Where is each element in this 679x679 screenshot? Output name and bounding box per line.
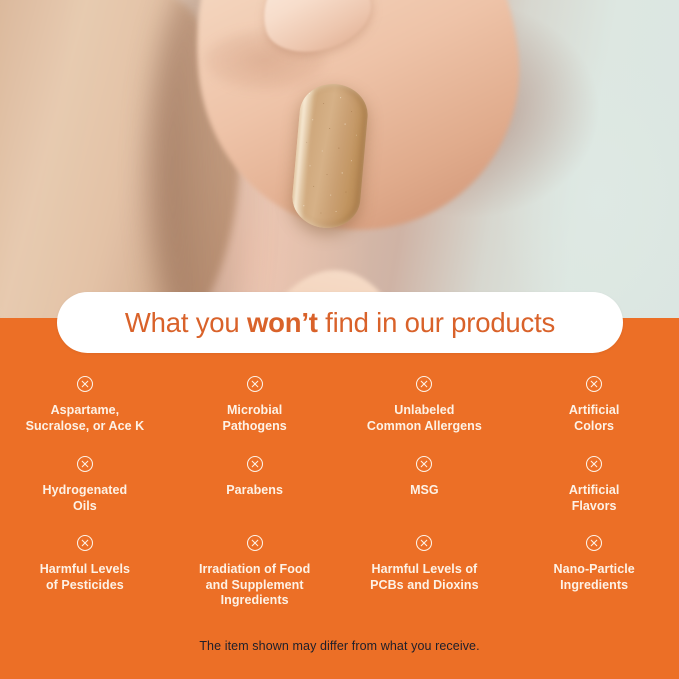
circle-x-icon	[76, 534, 94, 552]
grid-row: Aspartame, Sucralose, or Ace K Microbial…	[0, 372, 679, 452]
circle-x-icon	[76, 455, 94, 473]
excluded-ingredients-grid: Aspartame, Sucralose, or Ace K Microbial…	[0, 372, 679, 613]
label-line: Ingredients	[199, 593, 310, 609]
grid-cell: Artificial Flavors	[509, 452, 679, 531]
grid-cell: Harmful Levels of PCBs and Dioxins	[340, 531, 510, 613]
grid-cell: Unlabeled Common Allergens	[340, 372, 510, 452]
grid-cell-label: MSG	[410, 483, 439, 499]
grid-cell-label: Aspartame, Sucralose, or Ace K	[26, 403, 145, 434]
tablet-pill	[290, 81, 370, 230]
grid-row: Harmful Levels of Pesticides Irradiation…	[0, 531, 679, 613]
circle-x-icon	[246, 375, 264, 393]
label-line: Nano-Particle	[554, 562, 635, 578]
grid-cell: Hydrogenated Oils	[0, 452, 170, 531]
label-line: MSG	[410, 483, 439, 499]
label-line: Pathogens	[222, 419, 286, 435]
label-line: Aspartame,	[26, 403, 145, 419]
grid-cell: MSG	[340, 452, 510, 531]
label-line: PCBs and Dioxins	[370, 578, 478, 594]
circle-x-icon	[585, 455, 603, 473]
grid-cell-label: Nano-Particle Ingredients	[554, 562, 635, 593]
page-title: What you won’t find in our products	[125, 307, 555, 339]
circle-x-icon	[585, 534, 603, 552]
label-line: Parabens	[226, 483, 283, 499]
grid-cell-label: Harmful Levels of PCBs and Dioxins	[370, 562, 478, 593]
circle-x-icon	[415, 534, 433, 552]
grid-cell: Aspartame, Sucralose, or Ace K	[0, 372, 170, 452]
label-line: Oils	[43, 499, 128, 515]
grid-row: Hydrogenated Oils Parabens MSG Artifi	[0, 452, 679, 531]
label-line: Colors	[569, 419, 620, 435]
grid-cell: Nano-Particle Ingredients	[509, 531, 679, 613]
grid-cell-label: Hydrogenated Oils	[43, 483, 128, 514]
grid-cell: Microbial Pathogens	[170, 372, 340, 452]
product-photo	[0, 0, 679, 322]
circle-x-icon	[585, 375, 603, 393]
label-line: of Pesticides	[40, 578, 130, 594]
label-line: Flavors	[569, 499, 620, 515]
label-line: and Supplement	[199, 578, 310, 594]
title-banner: What you won’t find in our products	[57, 292, 623, 353]
grid-cell: Irradiation of Food and Supplement Ingre…	[170, 531, 340, 613]
grid-cell-label: Microbial Pathogens	[222, 403, 286, 434]
label-line: Artificial	[569, 403, 620, 419]
label-line: Unlabeled	[367, 403, 482, 419]
grid-cell: Harmful Levels of Pesticides	[0, 531, 170, 613]
grid-cell-label: Irradiation of Food and Supplement Ingre…	[199, 562, 310, 609]
circle-x-icon	[76, 375, 94, 393]
grid-cell: Parabens	[170, 452, 340, 531]
label-line: Irradiation of Food	[199, 562, 310, 578]
label-line: Hydrogenated	[43, 483, 128, 499]
grid-cell-label: Harmful Levels of Pesticides	[40, 562, 130, 593]
disclaimer-text: The item shown may differ from what you …	[0, 639, 679, 653]
label-line: Harmful Levels	[40, 562, 130, 578]
grid-cell: Artificial Colors	[509, 372, 679, 452]
product-infographic: What you won’t find in our products Aspa…	[0, 0, 679, 679]
label-line: Artificial	[569, 483, 620, 499]
grid-cell-label: Parabens	[226, 483, 283, 499]
grid-cell-label: Artificial Colors	[569, 403, 620, 434]
title-suffix: find in our products	[318, 307, 555, 338]
label-line: Harmful Levels of	[370, 562, 478, 578]
circle-x-icon	[415, 375, 433, 393]
circle-x-icon	[415, 455, 433, 473]
label-line: Ingredients	[554, 578, 635, 594]
circle-x-icon	[246, 534, 264, 552]
grid-cell-label: Unlabeled Common Allergens	[367, 403, 482, 434]
title-emphasis: won’t	[247, 307, 318, 338]
grid-cell-label: Artificial Flavors	[569, 483, 620, 514]
title-prefix: What you	[125, 307, 247, 338]
label-line: Microbial	[222, 403, 286, 419]
circle-x-icon	[246, 455, 264, 473]
label-line: Common Allergens	[367, 419, 482, 435]
label-line: Sucralose, or Ace K	[26, 419, 145, 435]
